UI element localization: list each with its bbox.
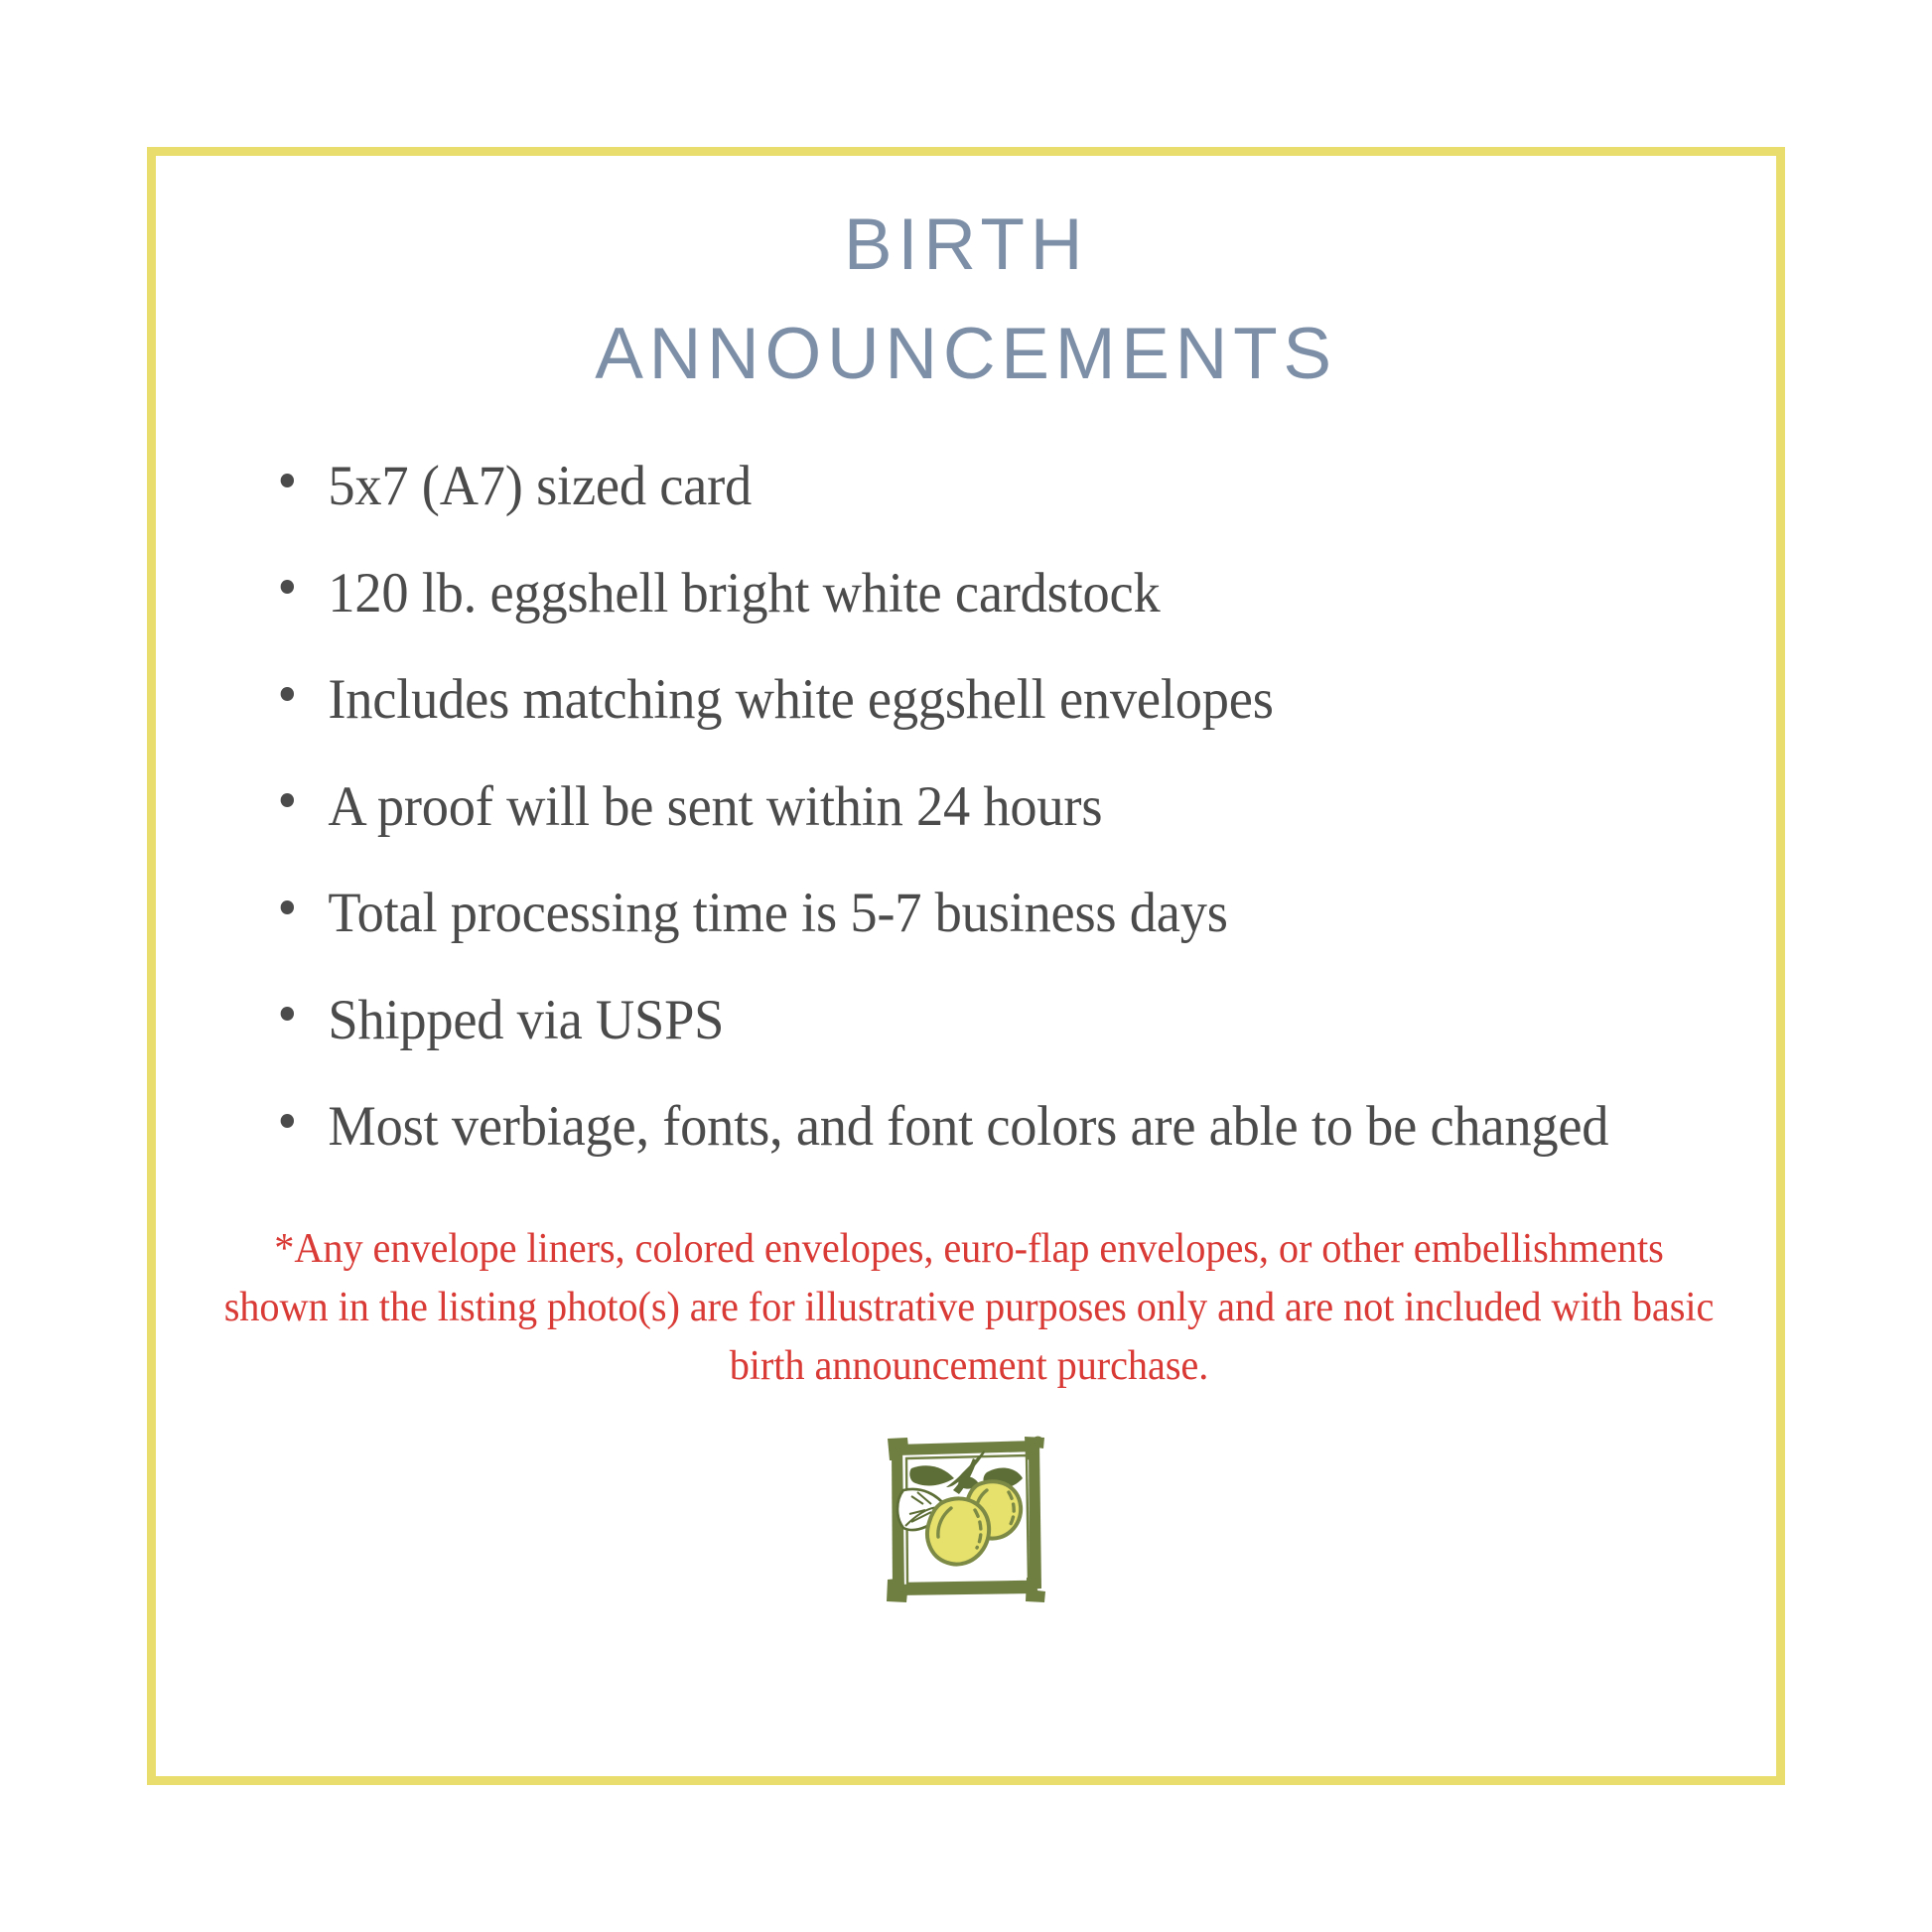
list-item-label: Includes matching white eggshell envelop…	[328, 668, 1273, 731]
list-item-label: Most verbiage, fonts, and font colors ar…	[328, 1095, 1608, 1158]
bullet-dot-icon	[281, 474, 294, 487]
list-item-label: 5x7 (A7) sized card	[328, 455, 752, 517]
bullet-dot-icon	[281, 580, 294, 594]
bullet-dot-icon	[281, 687, 294, 701]
leaf-top-left	[909, 1465, 954, 1485]
disclaimer-note: *Any envelope liners, colored envelopes,…	[222, 1220, 1715, 1395]
list-item: 5x7 (A7) sized card	[273, 444, 1642, 529]
card-inner-content: Birth Announcements 5x7 (A7) sized card …	[156, 156, 1776, 1776]
list-item-label: A proof will be sent within 24 hours	[328, 775, 1102, 838]
announcement-card: Birth Announcements 5x7 (A7) sized card …	[147, 147, 1785, 1785]
page-title-line-1: Birth	[196, 180, 1736, 289]
brand-logo: Lemon branch in a hand-drawn square fram…	[156, 1435, 1776, 1611]
list-item: Total processing time is 5-7 business da…	[273, 871, 1642, 956]
lemon-branch-logo-icon	[882, 1435, 1050, 1611]
product-features-list: 5x7 (A7) sized card 120 lb. eggshell bri…	[273, 444, 1707, 1170]
list-item-label: Shipped via USPS	[328, 989, 724, 1051]
bullet-dot-icon	[281, 793, 294, 807]
bullet-dot-icon	[281, 1114, 294, 1128]
lemon-lower-left	[927, 1498, 989, 1564]
list-item: A proof will be sent within 24 hours	[273, 764, 1642, 850]
list-item-label: Total processing time is 5-7 business da…	[328, 882, 1227, 944]
listing-image-canvas: Birth Announcements 5x7 (A7) sized card …	[0, 0, 1932, 1932]
list-item: 120 lb. eggshell bright white cardstock	[273, 551, 1642, 636]
page-title: Birth Announcements	[196, 180, 1736, 398]
bullet-dot-icon	[281, 1007, 294, 1021]
list-item-label: 120 lb. eggshell bright white cardstock	[328, 562, 1160, 624]
bullet-dot-icon	[281, 900, 294, 914]
list-item: Most verbiage, fonts, and font colors ar…	[273, 1084, 1642, 1170]
list-item: Shipped via USPS	[273, 978, 1642, 1063]
page-title-line-2: Announcements	[196, 289, 1736, 398]
list-item: Includes matching white eggshell envelop…	[273, 657, 1642, 743]
